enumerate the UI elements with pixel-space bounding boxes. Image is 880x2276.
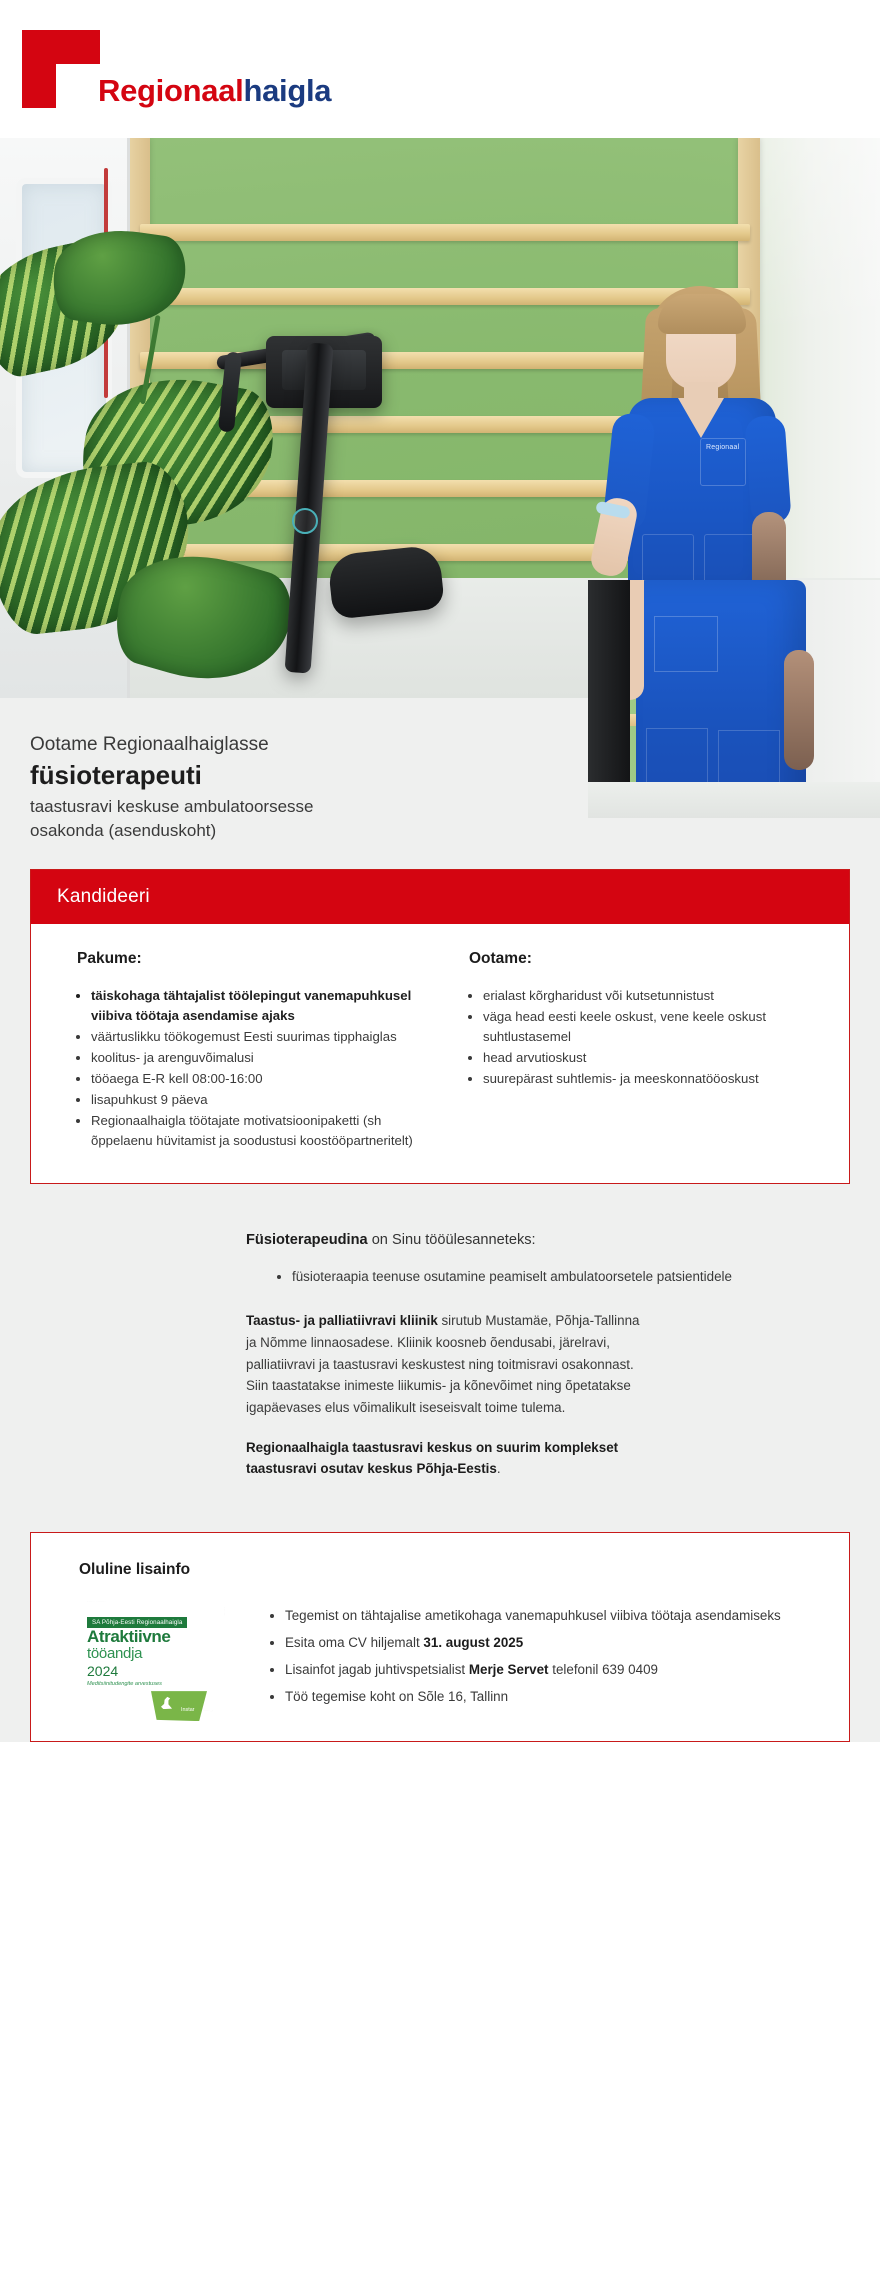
- expect-list: erialast kõrgharidust või kutsetunnistus…: [447, 986, 825, 1089]
- list-item: väärtuslikku töökogemust Eesti suurimas …: [91, 1027, 433, 1047]
- duties-lead-bold: Füsioterapeudina: [246, 1232, 368, 1248]
- list-item: füsioteraapia teenuse osutamine peamisel…: [292, 1267, 846, 1288]
- list-item: väga head eesti keele oskust, vene keele…: [483, 1007, 825, 1047]
- offer-column: Pakume: täiskohaga tähtajalist tööleping…: [55, 950, 433, 1153]
- list-item: suurepärast suhtlemis- ja meeskonnatööos…: [483, 1069, 825, 1089]
- info-list: Tegemist on tähtajalise ametikohaga vane…: [257, 1603, 823, 1710]
- info-list-column: Tegemist on tähtajalise ametikohaga vane…: [257, 1595, 823, 1710]
- offer-list: täiskohaga tähtajalist töölepingut vanem…: [55, 986, 433, 1152]
- duties-lead-rest: on Sinu tööülesanneteks:: [368, 1232, 536, 1248]
- apply-card: Kandideeri Pakume: täiskohaga tähtajalis…: [30, 869, 850, 1184]
- ladder-rung: [140, 224, 750, 241]
- bike-badge-icon: [292, 508, 318, 534]
- duties-section: Füsioterapeudina on Sinu tööülesanneteks…: [0, 1184, 880, 1533]
- contact-name: Merje Servet: [469, 1662, 549, 1677]
- list-item: Töö tegemise koht on Sõle 16, Tallinn: [285, 1684, 823, 1711]
- list-item: lisapuhkust 9 päeva: [91, 1090, 433, 1110]
- center-paragraph: Regionaalhaigla taastusravi keskus on su…: [246, 1437, 646, 1480]
- apply-banner[interactable]: Kandideeri: [31, 870, 849, 924]
- site-header: Regionaalhaigla: [0, 0, 880, 138]
- info-item-text: Esita oma CV hiljemalt: [285, 1635, 423, 1650]
- award-badge-line2: tööandja: [87, 1645, 142, 1662]
- list-item: head arvutioskust: [483, 1048, 825, 1068]
- award-badge-line1: Atraktiivne: [87, 1627, 170, 1647]
- uniform-logo-text: Regionaal: [706, 444, 739, 451]
- award-badge-brand: Instar: [181, 1707, 194, 1713]
- offer-heading: Pakume:: [77, 950, 433, 968]
- clinic-paragraph: Taastus- ja palliatiivravi kliinik sirut…: [246, 1310, 646, 1419]
- award-badge-column: SA Põhja-Eesti Regionaalhaigla Atraktiiv…: [57, 1595, 247, 1711]
- list-item: täiskohaga tähtajalist töölepingut vanem…: [91, 986, 433, 1026]
- logo-word-regionaal: Regionaal: [98, 73, 243, 108]
- info-heading: Oluline lisainfo: [79, 1561, 823, 1579]
- job-advert-page: Regionaalhaigla: [0, 0, 880, 2276]
- apply-section: Kandideeri Pakume: täiskohaga tähtajalis…: [0, 869, 880, 1184]
- award-badge: SA Põhja-Eesti Regionaalhaigla Atraktiiv…: [65, 1601, 225, 1711]
- hero-photo-crop: [588, 580, 880, 818]
- center-paragraph-bold: Regionaalhaigla taastusravi keskus on su…: [246, 1440, 618, 1477]
- duties-list: füsioteraapia teenuse osutamine peamisel…: [246, 1267, 846, 1288]
- info-card: Oluline lisainfo SA Põhja-Eesti Regionaa…: [30, 1532, 850, 1742]
- regionaalhaigla-logo[interactable]: Regionaalhaigla: [22, 30, 331, 108]
- award-badge-note: Meditsiinitudengite arvestuses: [87, 1681, 162, 1687]
- clinic-paragraph-bold: Taastus- ja palliatiivravi kliinik: [246, 1313, 438, 1328]
- duties-lead: Füsioterapeudina on Sinu tööülesanneteks…: [246, 1230, 846, 1252]
- bike-seat: [327, 544, 445, 619]
- list-item: erialast kõrgharidust või kutsetunnistus…: [483, 986, 825, 1006]
- logo-mark-icon: [22, 30, 100, 108]
- expect-heading: Ootame:: [469, 950, 825, 968]
- contact-phone: telefonil 639 0409: [549, 1662, 658, 1677]
- info-item-text: Töö tegemise koht on Sõle 16, Tallinn: [285, 1689, 508, 1704]
- info-item-text: Lisainfot jagab juhtivspetsialist: [285, 1662, 469, 1677]
- deadline-date: 31. august 2025: [423, 1635, 523, 1650]
- logo-wordmark: Regionaalhaigla: [98, 75, 331, 108]
- info-section: Oluline lisainfo SA Põhja-Eesti Regionaa…: [0, 1532, 880, 1742]
- info-item-text: Tegemist on tähtajalise ametikohaga vane…: [285, 1608, 781, 1623]
- award-badge-year: 2024: [87, 1663, 118, 1679]
- center-paragraph-rest: .: [497, 1461, 501, 1476]
- list-item: Esita oma CV hiljemalt 31. august 2025: [285, 1630, 823, 1657]
- job-title-band: Ootame Regionaalhaiglasse füsioterapeuti…: [0, 698, 880, 869]
- list-item: Lisainfot jagab juhtivspetsialist Merje …: [285, 1657, 823, 1684]
- expect-column: Ootame: erialast kõrgharidust või kutset…: [447, 950, 825, 1153]
- list-item: Regionaalhaigla töötajate motivatsioonip…: [91, 1111, 433, 1151]
- logo-word-haigla: haigla: [243, 73, 331, 108]
- list-item: koolitus- ja arenguvõimalusi: [91, 1048, 433, 1068]
- clinic-paragraph-rest: sirutub Mustamäe, Põhja-Tallinna ja Nõmm…: [246, 1313, 639, 1415]
- list-item: Tegemist on tähtajalise ametikohaga vane…: [285, 1603, 823, 1630]
- page-subtitle: taastusravi keskuse ambulatoorsesse osak…: [30, 795, 360, 843]
- list-item: tööaega E-R kell 08:00-16:00: [91, 1069, 433, 1089]
- page-footer-spacer: [0, 1742, 880, 1812]
